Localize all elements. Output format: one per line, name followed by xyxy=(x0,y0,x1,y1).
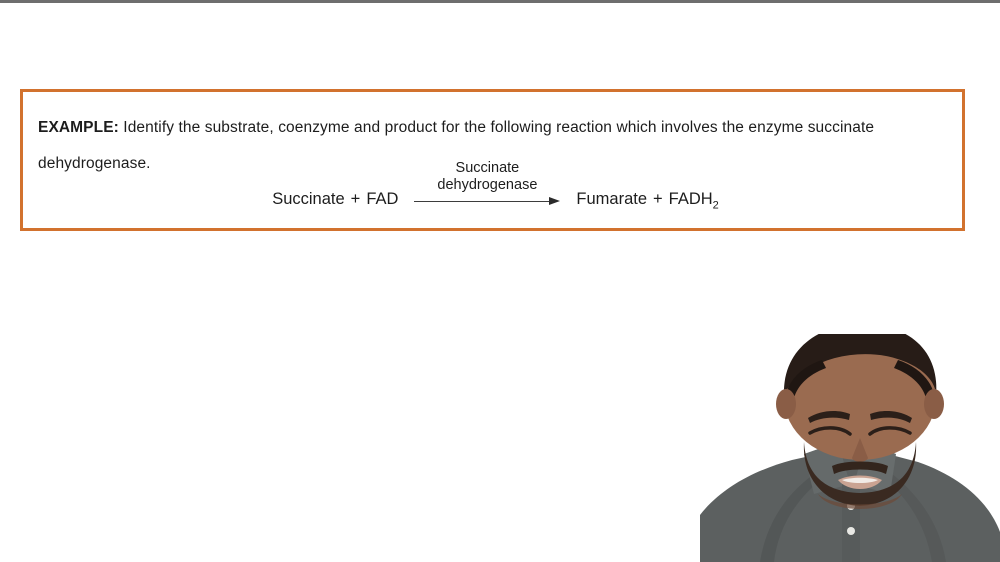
top-divider-rule xyxy=(0,0,1000,3)
product-fumarate: Fumarate xyxy=(576,190,647,208)
catalyst-line-2: dehydrogenase xyxy=(437,177,537,194)
products-group: Fumarate+FADH2 xyxy=(576,191,718,209)
arrow-shaft xyxy=(414,201,550,202)
arrow-head xyxy=(549,197,560,205)
product-plus-sign: + xyxy=(647,190,669,208)
product-fadh2: FADH xyxy=(669,190,713,208)
catalyst-label: Succinate dehydrogenase xyxy=(437,160,537,194)
right-arrow-icon xyxy=(414,196,560,208)
slide-canvas: EXAMPLE: Identify the substrate, coenzym… xyxy=(0,0,1000,562)
catalyst-line-1: Succinate xyxy=(437,160,537,177)
reactants-group: Succinate+FAD xyxy=(272,191,398,209)
shirt-button-middle xyxy=(847,527,855,535)
reactant-succinate: Succinate xyxy=(272,190,344,208)
chemical-reaction-equation: Succinate+FAD Succinate dehydrogenase Fu… xyxy=(23,160,968,208)
ear-left xyxy=(776,389,796,419)
ear-right xyxy=(924,389,944,419)
product-fadh2-subscript: 2 xyxy=(713,199,719,211)
instructor-illustration xyxy=(700,334,1000,562)
reactant-plus-sign: + xyxy=(345,190,367,208)
example-callout-box: EXAMPLE: Identify the substrate, coenzym… xyxy=(20,89,965,231)
instructor-video-overlay xyxy=(700,334,1000,562)
example-label: EXAMPLE: xyxy=(38,119,119,136)
reaction-arrow-group: Succinate dehydrogenase xyxy=(412,160,562,208)
reactant-fad: FAD xyxy=(366,190,398,208)
